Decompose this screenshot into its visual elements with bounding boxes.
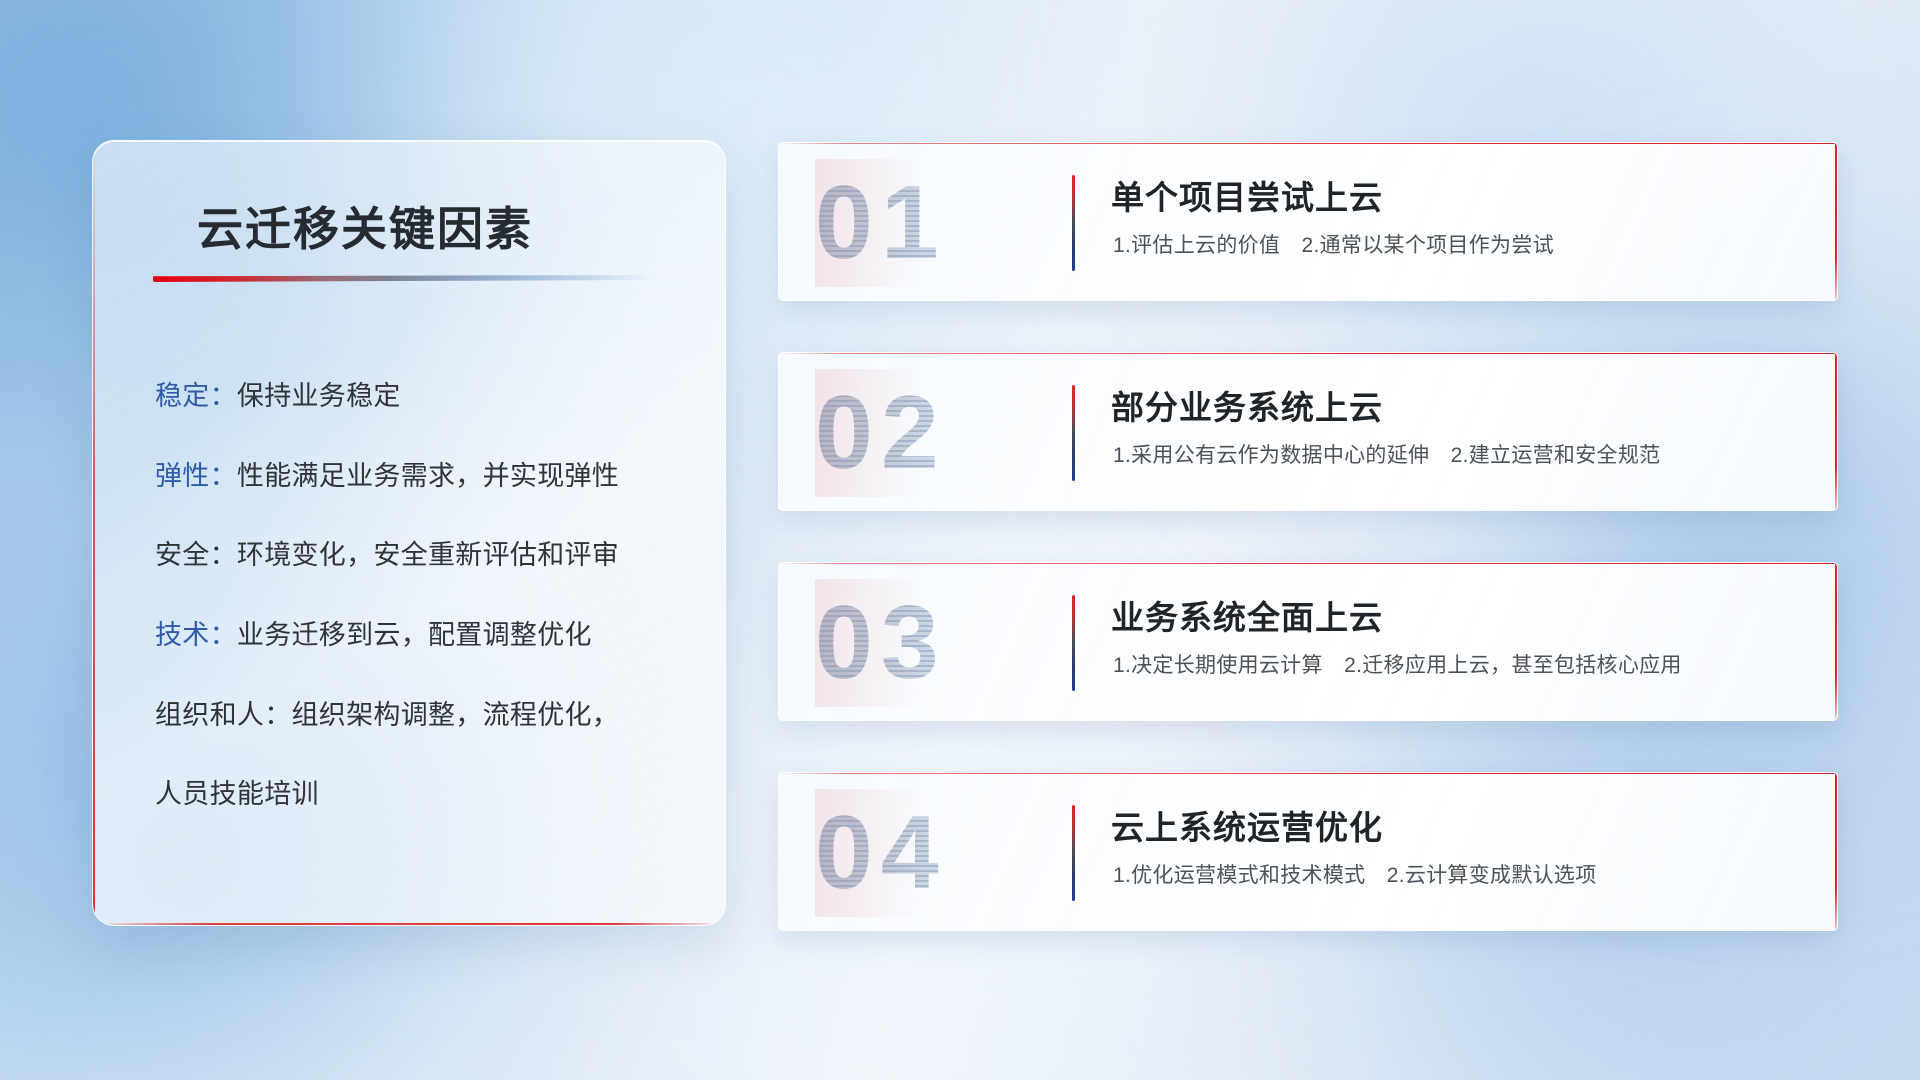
stage-card[interactable]: 01 单个项目尝试上云 1.评估上云的价值 2.通常以某个项目作为尝试 [778,142,1838,301]
page-title: 云迁移关键因素 [197,193,533,259]
stage-title: 云上系统运营优化 [1111,801,1383,849]
stage-description: 1.优化运营模式和技术模式 2.云计算变成默认选项 [1113,859,1597,889]
stage-description: 1.采用公有云作为数据中心的延伸 2.建立运营和安全规范 [1113,439,1660,469]
list-item: 安全：环境变化，安全重新评估和评审 [155,538,691,574]
stage-title: 单个项目尝试上云 [1111,171,1383,219]
list-item-text: 性能满足业务需求，并实现弹性 [237,461,619,491]
list-item: 技术：业务迁移到云，配置调整优化 [155,618,691,654]
stage-number: 01 [815,159,1075,287]
list-item-key: 组织和人： [155,700,292,730]
stage-number: 02 [815,369,1075,497]
stage-number: 04 [815,789,1075,917]
list-item-text: 人员技能培训 [155,779,319,809]
title-underline-gradient [153,275,653,282]
list-item-text: 业务迁移到云，配置调整优化 [237,620,592,650]
list-item-text: 组织架构调整，流程优化， [292,700,620,730]
list-item-key: 弹性： [155,461,237,491]
stage-accent-bar [1072,595,1075,691]
list-item-key: 安全： [155,540,237,570]
stage-accent-bar [1072,175,1075,271]
list-item: 稳定：保持业务稳定 [155,379,691,415]
key-factors-panel: 云迁移关键因素 稳定：保持业务稳定 弹性：性能满足业务需求，并实现弹性 安全：环… [92,140,726,926]
list-item: 弹性：性能满足业务需求，并实现弹性 [155,459,691,495]
key-factors-list: 稳定：保持业务稳定 弹性：性能满足业务需求，并实现弹性 安全：环境变化，安全重新… [155,379,691,857]
stage-title: 部分业务系统上云 [1111,381,1383,429]
stage-description: 1.决定长期使用云计算 2.迁移应用上云，甚至包括核心应用 [1113,649,1682,679]
list-item-text: 保持业务稳定 [237,381,401,411]
stage-accent-bar [1072,385,1075,481]
stage-description: 1.评估上云的价值 2.通常以某个项目作为尝试 [1113,229,1554,259]
list-item: 组织和人：组织架构调整，流程优化， [155,698,691,734]
stage-number: 03 [815,579,1075,707]
stage-card[interactable]: 02 部分业务系统上云 1.采用公有云作为数据中心的延伸 2.建立运营和安全规范 [778,352,1838,511]
list-item: 人员技能培训 [155,777,691,813]
stage-card[interactable]: 04 云上系统运营优化 1.优化运营模式和技术模式 2.云计算变成默认选项 [778,772,1838,931]
list-item-text: 环境变化，安全重新评估和评审 [237,540,619,570]
stage-title: 业务系统全面上云 [1111,591,1383,639]
list-item-key: 稳定： [155,381,237,411]
slide-stage: 云迁移关键因素 稳定：保持业务稳定 弹性：性能满足业务需求，并实现弹性 安全：环… [0,0,1920,1080]
stage-accent-bar [1072,805,1075,901]
list-item-key: 技术： [155,620,237,650]
stage-card[interactable]: 03 业务系统全面上云 1.决定长期使用云计算 2.迁移应用上云，甚至包括核心应… [778,562,1838,721]
